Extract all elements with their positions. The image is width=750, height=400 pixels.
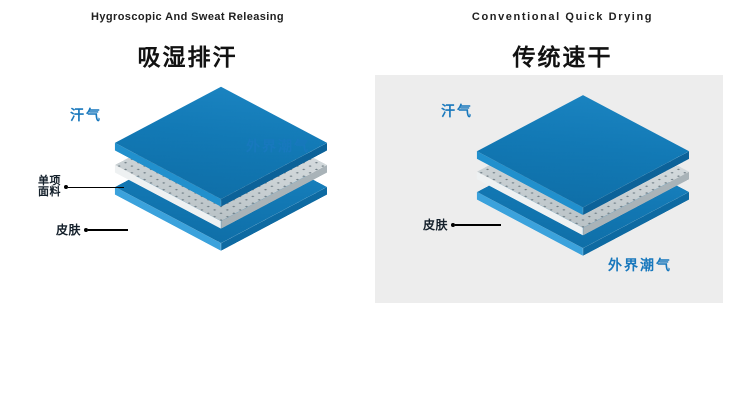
skin-leader: 皮肤 [423, 219, 501, 231]
skin-label: 皮肤 [56, 224, 81, 236]
single-way-fabric-label: 单项 面料 [38, 176, 61, 198]
leader-line [455, 224, 501, 225]
skin-leader: 皮肤 [56, 224, 128, 236]
panel-title: 吸湿排汗 [0, 38, 375, 72]
ambient-moisture-label: 外界潮气 [608, 255, 672, 275]
single-way-fabric-label-line2: 面料 [38, 187, 61, 198]
sweat-vapor-label: 汗气 [70, 105, 102, 125]
single-way-fabric-leader: 单项 面料 [38, 176, 124, 198]
skin-label: 皮肤 [423, 219, 448, 231]
ambient-moisture-label: 外界潮气 [246, 136, 310, 156]
panel-conventional: Conventional Quick Drying 传统速干 汗气 外界潮气 [375, 0, 750, 400]
leader-line [88, 229, 128, 230]
panel-eyebrow: Hygroscopic And Sweat Releasing [0, 11, 375, 23]
panel-title: 传统速干 [375, 38, 750, 72]
panel-eyebrow: Conventional Quick Drying [375, 11, 750, 23]
leader-line [68, 187, 124, 188]
sweat-vapor-label: 汗气 [441, 101, 473, 121]
panel-hygroscopic: Hygroscopic And Sweat Releasing 吸湿排汗 汗气 … [0, 0, 375, 400]
